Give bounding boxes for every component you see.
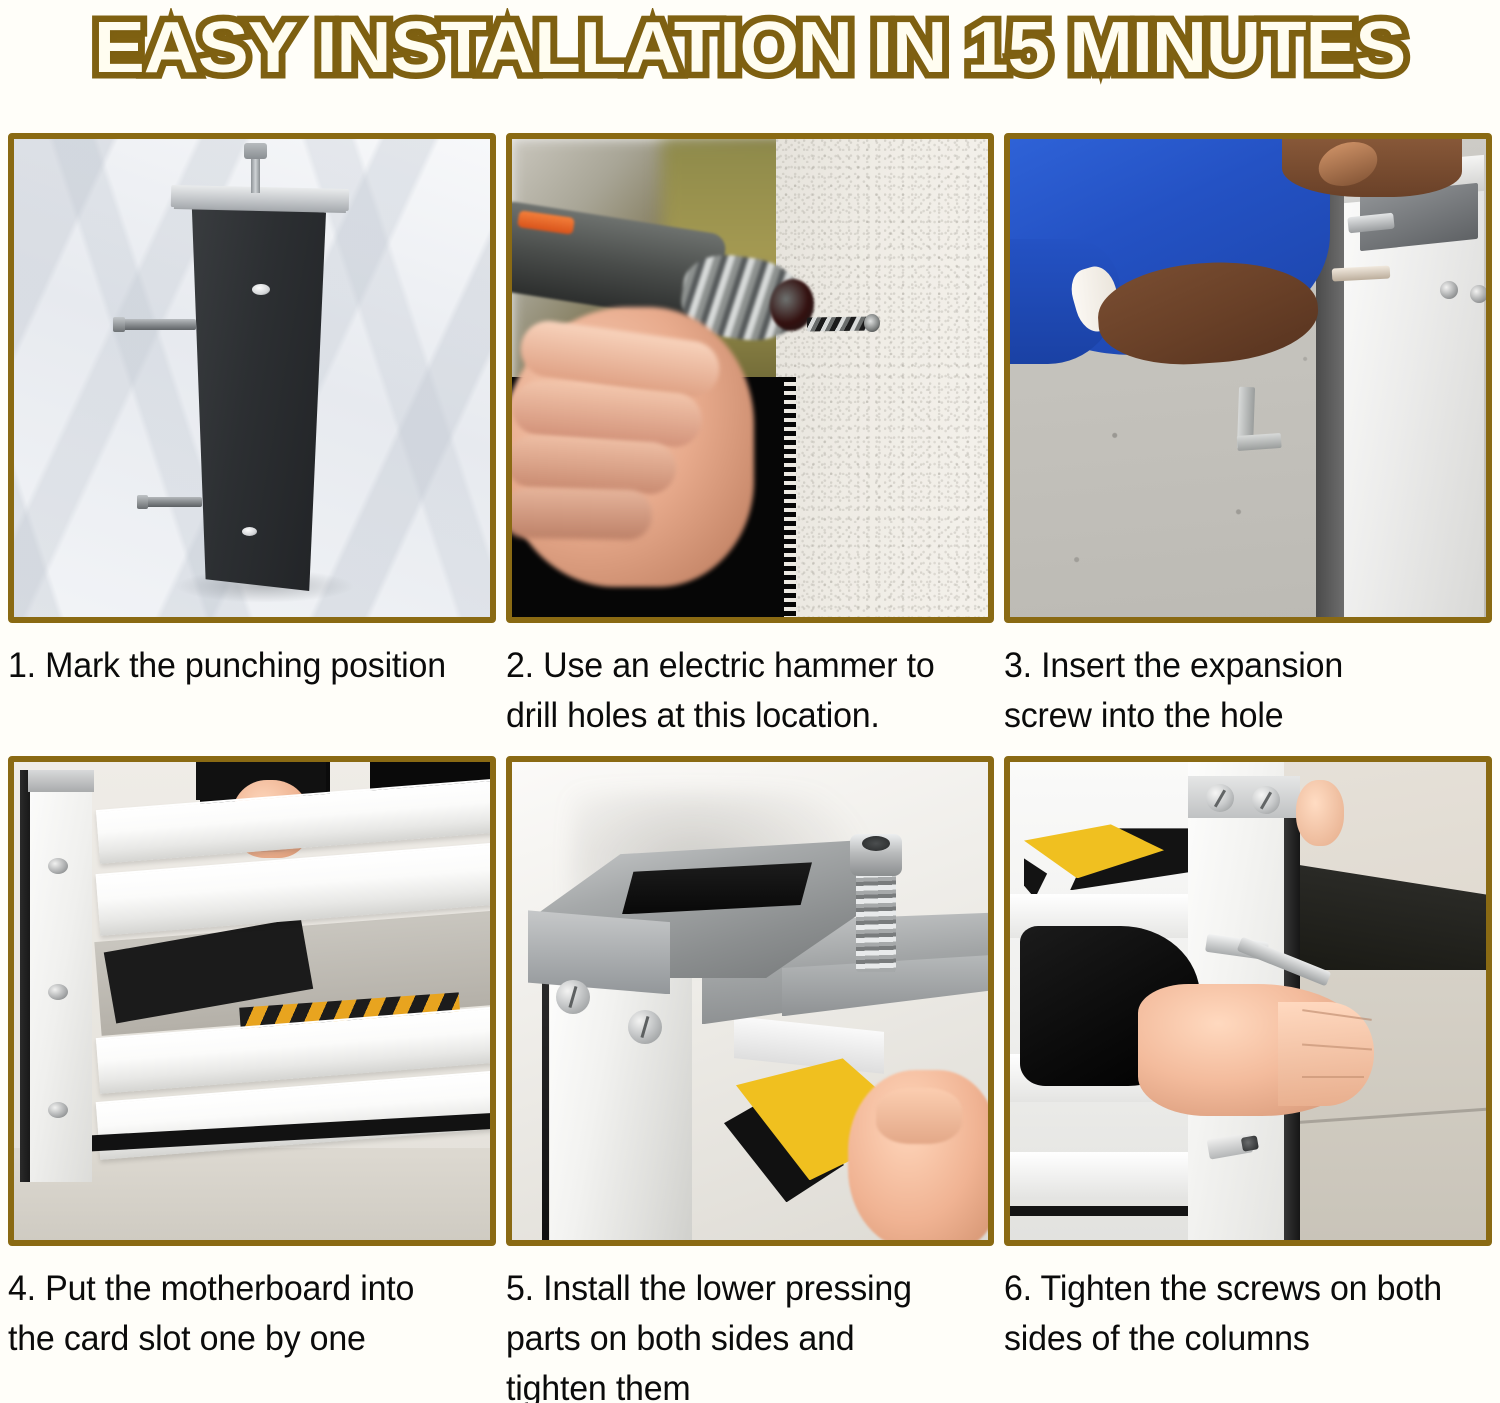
column-shadow-edge xyxy=(542,972,549,1240)
panel-base-rail xyxy=(1010,1206,1206,1216)
step-3-photo xyxy=(1004,133,1492,623)
step-card-2: 2. Use an electric hammer to drill holes… xyxy=(506,133,994,740)
step-4-photo xyxy=(8,756,496,1246)
worker-upper-hand xyxy=(1296,780,1344,846)
column-bolt xyxy=(1470,285,1486,303)
panel-slat xyxy=(1010,1152,1200,1198)
step-3-caption: 3. Insert the expansion screw into the h… xyxy=(1004,641,1477,740)
steps-row-top: 1. Mark the punching position xyxy=(8,133,1492,740)
white-column xyxy=(30,774,92,1182)
worker-fingers xyxy=(876,1088,962,1144)
step-1-caption: 1. Mark the punching position xyxy=(8,641,481,691)
column-top-cap xyxy=(28,770,94,792)
step-5-photo xyxy=(506,756,994,1246)
top-bolt-shaft-icon xyxy=(251,153,260,193)
installation-guide-page: EASY INSTALLATION IN 15 MINUTES xyxy=(0,0,1500,1403)
step-2-caption: 2. Use an electric hammer to drill holes… xyxy=(506,641,979,740)
bracket-front-face xyxy=(528,910,670,994)
step-5-caption: 5. Install the lower pressing parts on b… xyxy=(506,1264,979,1403)
steps-grid: 1. Mark the punching position xyxy=(8,133,1492,1403)
column-bolt xyxy=(1440,281,1458,299)
textured-wall xyxy=(776,139,988,617)
allen-key-icon xyxy=(1237,387,1255,450)
finger-crease xyxy=(1302,1076,1364,1078)
step-card-5: 5. Install the lower pressing parts on b… xyxy=(506,756,994,1403)
step-card-4: 4. Put the motherboard into the card slo… xyxy=(8,756,496,1403)
lower-mounting-hole xyxy=(242,527,257,536)
page-title: EASY INSTALLATION IN 15 MINUTES xyxy=(94,12,1405,84)
step-6-photo xyxy=(1004,756,1492,1246)
post-top-cap xyxy=(171,185,349,211)
top-bolt-head-icon xyxy=(244,143,267,159)
step-card-1: 1. Mark the punching position xyxy=(8,133,496,740)
step-4-caption: 4. Put the motherboard into the card slo… xyxy=(8,1264,481,1363)
step-2-photo xyxy=(506,133,994,623)
step-1-photo xyxy=(8,133,496,623)
step-card-6: 6. Tighten the screws on both sides of t… xyxy=(1004,756,1492,1403)
drill-bit-tip xyxy=(864,314,880,332)
hand-finger xyxy=(512,435,677,496)
column-top-bracket xyxy=(1188,776,1300,818)
lower-marking-pin xyxy=(142,497,202,507)
step-card-3: 3. Insert the expansion screw into the h… xyxy=(1004,133,1492,740)
steps-row-bottom: 4. Put the motherboard into the card slo… xyxy=(8,756,1492,1403)
upper-mounting-hole xyxy=(252,284,270,295)
hand-finger xyxy=(512,488,652,541)
step-6-caption: 6. Tighten the screws on both sides of t… xyxy=(1004,1264,1477,1363)
upper-marking-pin xyxy=(118,319,196,330)
page-header: EASY INSTALLATION IN 15 MINUTES xyxy=(0,0,1500,96)
threaded-bolt-shaft-icon xyxy=(856,860,896,972)
